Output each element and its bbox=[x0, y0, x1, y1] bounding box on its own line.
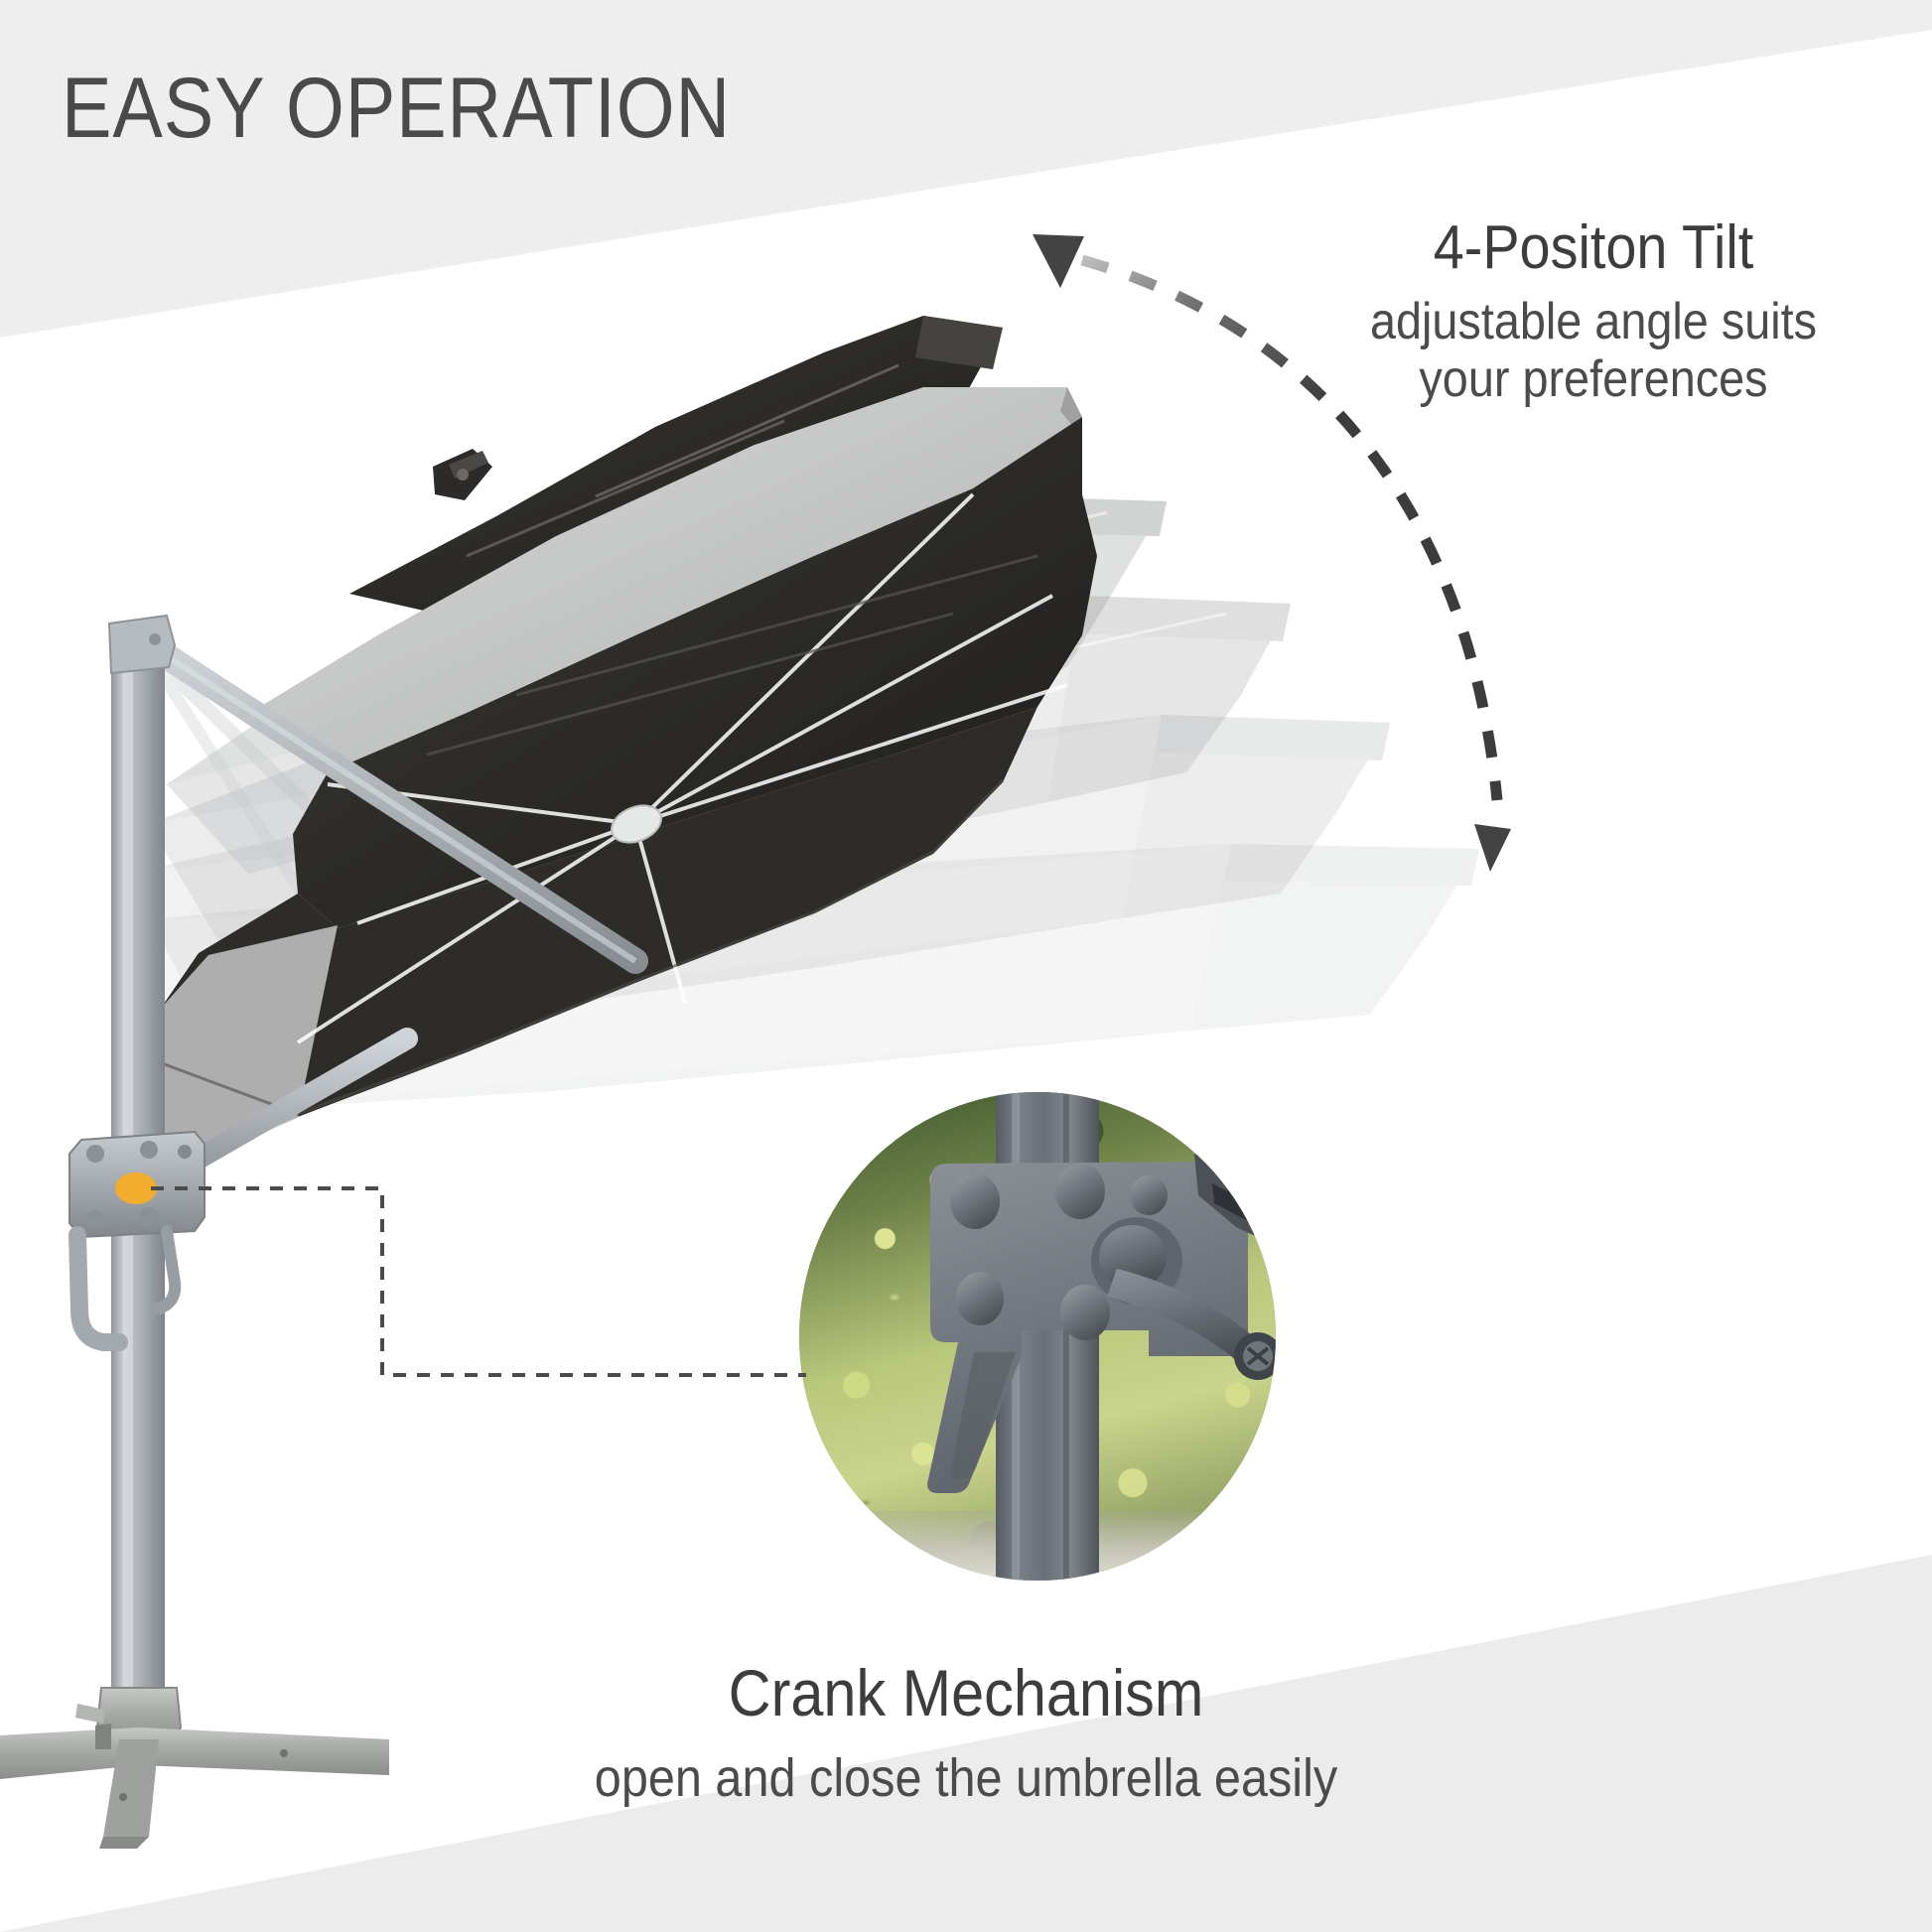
arc-arrowhead-top-icon bbox=[1033, 234, 1084, 288]
tilt-callout-subtitle-line2: your preferences bbox=[1308, 350, 1879, 408]
tilt-callout: 4-Positon Tilt adjustable angle suits yo… bbox=[1276, 216, 1911, 409]
crank-callout: Crank Mechanism open and close the umbre… bbox=[370, 1660, 1562, 1805]
page-title: EASY OPERATION bbox=[62, 66, 731, 151]
tilt-callout-subtitle-line1: adjustable angle suits bbox=[1308, 293, 1879, 350]
tilt-callout-subtitle: adjustable angle suits your preferences bbox=[1308, 293, 1879, 408]
infographic-canvas: EASY OPERATION 4-Positon Tilt adjustable… bbox=[0, 0, 1932, 1932]
tilt-callout-title: 4-Positon Tilt bbox=[1308, 216, 1879, 279]
arc-arrowhead-bottom-icon bbox=[1474, 824, 1511, 872]
crank-callout-title: Crank Mechanism bbox=[430, 1660, 1502, 1725]
crank-callout-subtitle: open and close the umbrella easily bbox=[430, 1751, 1502, 1805]
